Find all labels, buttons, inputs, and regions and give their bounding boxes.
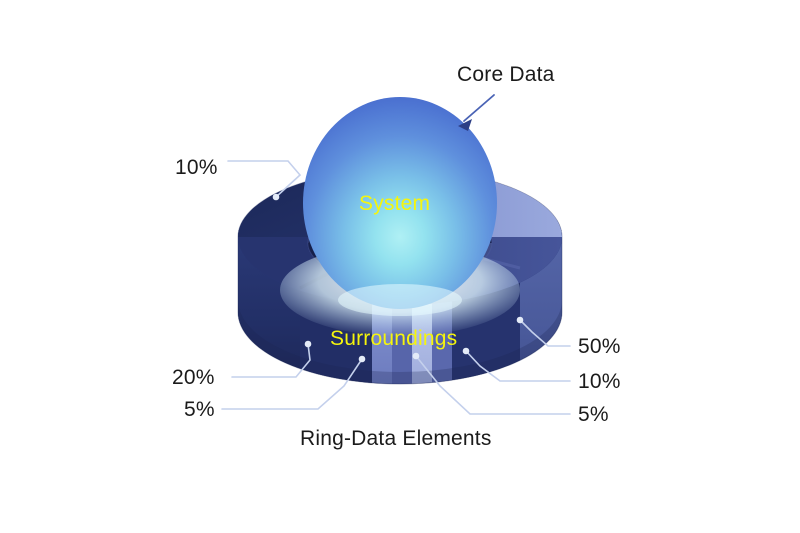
core-data-label: Core Data (457, 63, 555, 87)
callout-left-top: 10% (175, 156, 218, 180)
callout-right-mid: 10% (578, 370, 621, 394)
diagram-canvas: Core Data System Surroundings Ring-Data … (0, 0, 800, 533)
ring-data-elements-label: Ring-Data Elements (300, 427, 492, 451)
callout-left-lower: 20% (172, 366, 215, 390)
callout-right-top: 50% (578, 335, 621, 359)
callout-left-bottom: 5% (184, 398, 215, 422)
surroundings-label: Surroundings (330, 327, 457, 351)
system-label: System (359, 192, 430, 216)
core-data-arrow (458, 95, 494, 131)
ring-core-diagram (0, 0, 800, 533)
callout-right-bottom: 5% (578, 403, 609, 427)
